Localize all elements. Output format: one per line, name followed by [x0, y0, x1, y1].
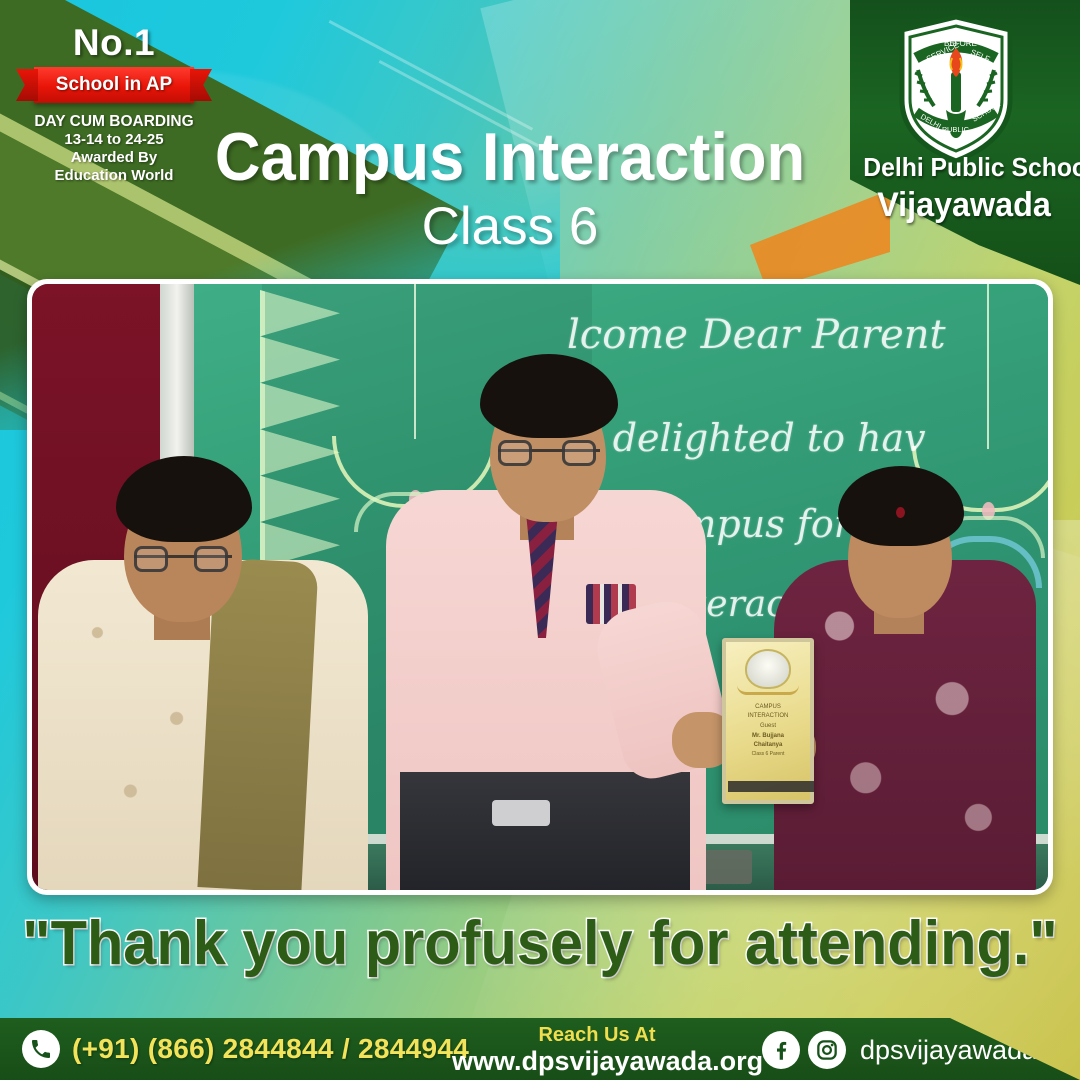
contact-phone[interactable]: (+91) (866) 2844844 / 2844944 — [22, 1030, 469, 1068]
school-name: Delhi Public School — [863, 152, 1064, 183]
svg-text:BEFORE: BEFORE — [944, 39, 977, 48]
plaque-line-5: Chaitanya — [731, 741, 805, 749]
plaque-wreath-icon — [737, 685, 799, 695]
person-right-parent — [774, 420, 1044, 890]
phone-number: (+91) (866) 2844844 / 2844944 — [72, 1033, 469, 1065]
footer-bar: (+91) (866) 2844844 / 2844944 Reach Us A… — [0, 1018, 1080, 1080]
plaque-line-4: Mr. Bujjana — [731, 732, 805, 740]
plaque-line-6: Class 6 Parent — [731, 751, 805, 758]
page-title: Campus Interaction — [175, 118, 845, 196]
facebook-icon[interactable] — [762, 1031, 800, 1069]
social-links[interactable]: dpsvijayawada — [762, 1031, 1037, 1069]
plaque-line-1: CAMPUS — [731, 703, 805, 711]
svg-text:PUBLIC: PUBLIC — [942, 125, 970, 134]
website-block[interactable]: Reach Us At www.dpsvijayawada.org — [452, 1024, 742, 1077]
school-crest-icon: SERVICE BEFORE SELF DELHI PUBLIC SCHOOL — [894, 14, 1018, 164]
poster-canvas: No.1 School in AP DAY CUM BOARDING 13-14… — [0, 0, 1080, 1080]
phone-icon — [22, 1030, 60, 1068]
plaque-line-2: INTERACTION — [731, 712, 805, 720]
instagram-icon[interactable] — [808, 1031, 846, 1069]
person-center-principal — [372, 290, 722, 890]
social-handle: dpsvijayawada — [860, 1035, 1037, 1066]
quote-text: "Thank you profusely for attending." — [22, 908, 1059, 979]
event-photo-frame: lcome Dear Parent re delighted to hav on… — [27, 279, 1053, 895]
reach-us-label: Reach Us At — [452, 1024, 742, 1046]
person-left-teacher — [38, 330, 378, 890]
website-url: www.dpsvijayawada.org — [452, 1046, 742, 1077]
plaque-line-3: Guest — [731, 722, 805, 730]
event-photo: lcome Dear Parent re delighted to hav on… — [32, 284, 1048, 890]
memento-plaque: CAMPUS INTERACTION Guest Mr. Bujjana Cha… — [722, 638, 814, 804]
badge-ribbon-label: School in AP — [56, 74, 172, 96]
badge-rank: No.1 — [18, 24, 210, 61]
school-city: Vijayawada — [863, 186, 1064, 225]
badge-ribbon: School in AP — [34, 67, 194, 103]
plaque-base-bar — [728, 781, 814, 792]
plaque-emblem-icon — [745, 649, 791, 689]
